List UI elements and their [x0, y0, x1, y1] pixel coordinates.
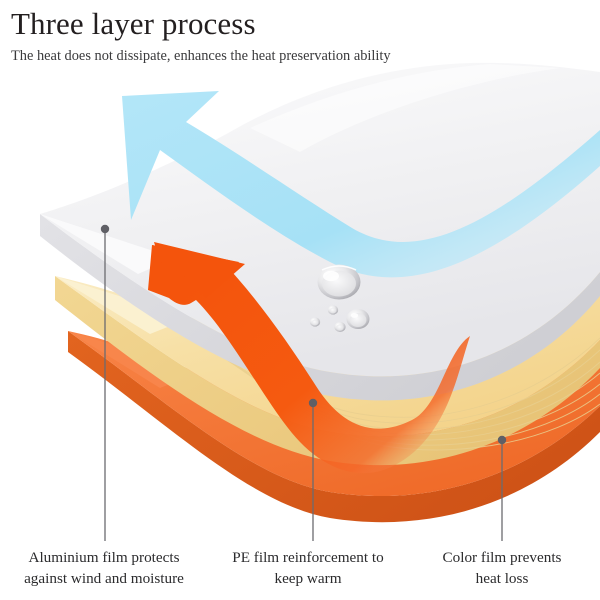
- callout-label-color-film-line1: Color film prevents: [416, 547, 588, 568]
- callout-label-pe-film-line2: keep warm: [215, 568, 401, 589]
- callout-label-pe-film-line1: PE film reinforcement to: [215, 547, 401, 568]
- page-subtitle: The heat does not dissipate, enhances th…: [11, 42, 600, 65]
- callout-label-pe-film: PE film reinforcement to keep warm: [215, 547, 401, 589]
- three-layer-illustration: [0, 0, 600, 600]
- infographic-canvas: Three layer process The heat does not di…: [0, 0, 600, 600]
- callout-dot-color-film: [498, 436, 506, 444]
- header-block: Three layer process The heat does not di…: [0, 0, 600, 65]
- callout-label-aluminium-film-line1: Aluminium film protects: [6, 547, 202, 568]
- droplet-medium: [347, 309, 370, 329]
- page-title: Three layer process: [11, 0, 600, 42]
- callout-dot-pe-film: [309, 399, 317, 407]
- droplet-small-b: [334, 322, 345, 332]
- callout-dot-aluminium-film: [101, 225, 109, 233]
- droplet-small-c: [310, 317, 320, 326]
- callout-label-color-film-line2: heat loss: [416, 568, 588, 589]
- droplet-large: [318, 265, 361, 300]
- droplet-small-a: [328, 305, 338, 314]
- callout-label-aluminium-film-line2: against wind and moisture: [6, 568, 202, 589]
- callout-label-color-film: Color film prevents heat loss: [416, 547, 588, 589]
- callout-label-aluminium-film: Aluminium film protects against wind and…: [6, 547, 202, 589]
